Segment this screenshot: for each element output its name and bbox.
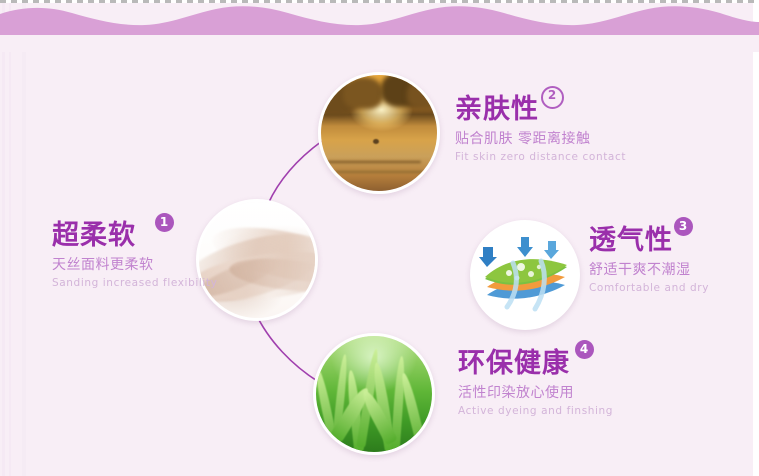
feature-image-breathability (470, 220, 580, 330)
feature-title-text: 超柔软 (52, 220, 136, 251)
feature-english: Comfortable and dry (589, 282, 709, 294)
right-margin (753, 0, 759, 476)
feature-image-sunset (318, 72, 440, 194)
feature-number-badge: 2 (541, 86, 564, 109)
feature-title-text: 环保健康 (458, 348, 570, 379)
top-dashed-divider (0, 0, 759, 3)
feature-title: 环保健康 4 (458, 350, 570, 378)
product-feature-banner: 超柔软 1 天丝面料更柔软 Sanding increased flexibil… (0, 0, 759, 476)
feature-block-1: 超柔软 1 天丝面料更柔软 Sanding increased flexibil… (52, 222, 217, 289)
sunset-field-photo (321, 75, 437, 191)
breathability-diagram-icon (473, 223, 577, 327)
feature-english: Fit skin zero distance contact (455, 151, 626, 163)
feature-subtitle: 天丝面料更柔软 (52, 254, 217, 274)
feature-title: 亲肤性 2 (455, 96, 539, 124)
background-stripe (22, 0, 26, 476)
feature-number-badge: 3 (674, 217, 693, 236)
feature-title: 超柔软 1 (52, 222, 136, 250)
feature-title: 透气性 3 (589, 227, 673, 255)
feature-english: Active dyeing and finshing (458, 405, 613, 417)
background-stripe (2, 0, 5, 476)
feature-subtitle: 活性印染放心使用 (458, 382, 613, 402)
feature-title-text: 透气性 (589, 225, 673, 256)
green-grass-photo (316, 336, 432, 452)
feature-block-2: 亲肤性 2 贴合肌肤 零距离接触 Fit skin zero distance … (455, 96, 626, 163)
feature-block-4: 环保健康 4 活性印染放心使用 Active dyeing and finshi… (458, 350, 613, 417)
feature-block-3: 透气性 3 舒适干爽不潮湿 Comfortable and dry (589, 227, 709, 294)
feature-title-text: 亲肤性 (455, 94, 539, 125)
background-stripe (9, 0, 11, 476)
feature-image-grass (313, 333, 435, 455)
feature-subtitle: 舒适干爽不潮湿 (589, 259, 709, 279)
feature-subtitle: 贴合肌肤 零距离接触 (455, 128, 626, 148)
feature-english: Sanding increased flexibility (52, 277, 217, 289)
feature-number-badge: 1 (155, 213, 174, 232)
feature-number-badge: 4 (575, 340, 594, 359)
